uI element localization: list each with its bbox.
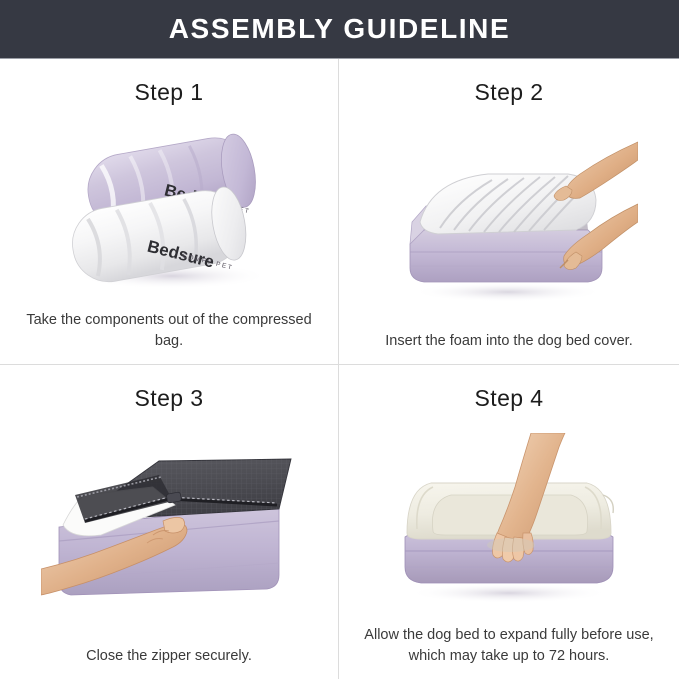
step-title-3: Step 3 bbox=[135, 385, 204, 412]
steps-grid: Step 1 bbox=[0, 59, 679, 679]
step-art-2 bbox=[353, 106, 665, 331]
step-panel-4: Step 4 bbox=[339, 365, 679, 679]
step-art-4 bbox=[353, 412, 665, 625]
step-title-4: Step 4 bbox=[475, 385, 544, 412]
bed-shadow bbox=[412, 282, 604, 302]
assembly-guideline-page: ASSEMBLY GUIDELINE Step 1 bbox=[0, 0, 679, 679]
step-art-3 bbox=[14, 412, 324, 646]
compressed-rolls-illustration: Bedsure COMFY PET Bedsure COMFY PET bbox=[44, 124, 294, 292]
bed-shadow bbox=[409, 583, 609, 603]
step-title-1: Step 1 bbox=[135, 79, 204, 106]
expanded-bed-illustration bbox=[381, 433, 637, 603]
step-panel-3: Step 3 bbox=[0, 365, 339, 679]
inserting-foam-illustration bbox=[380, 134, 638, 302]
step-caption-1: Take the components out of the compresse… bbox=[19, 310, 319, 356]
step-art-1: Bedsure COMFY PET Bedsure COMFY PET bbox=[14, 106, 324, 310]
zipper-pull bbox=[166, 492, 181, 503]
step-caption-4: Allow the dog bed to expand fully before… bbox=[353, 625, 665, 671]
closing-zipper-illustration bbox=[41, 443, 297, 615]
page-title: ASSEMBLY GUIDELINE bbox=[169, 15, 511, 43]
header-banner: ASSEMBLY GUIDELINE bbox=[0, 0, 679, 59]
step-title-2: Step 2 bbox=[475, 79, 544, 106]
step-panel-2: Step 2 bbox=[339, 59, 679, 365]
step-panel-1: Step 1 bbox=[0, 59, 339, 365]
step-caption-2: Insert the foam into the dog bed cover. bbox=[385, 331, 632, 356]
hand-upper bbox=[554, 142, 638, 201]
step-caption-3: Close the zipper securely. bbox=[86, 646, 252, 671]
